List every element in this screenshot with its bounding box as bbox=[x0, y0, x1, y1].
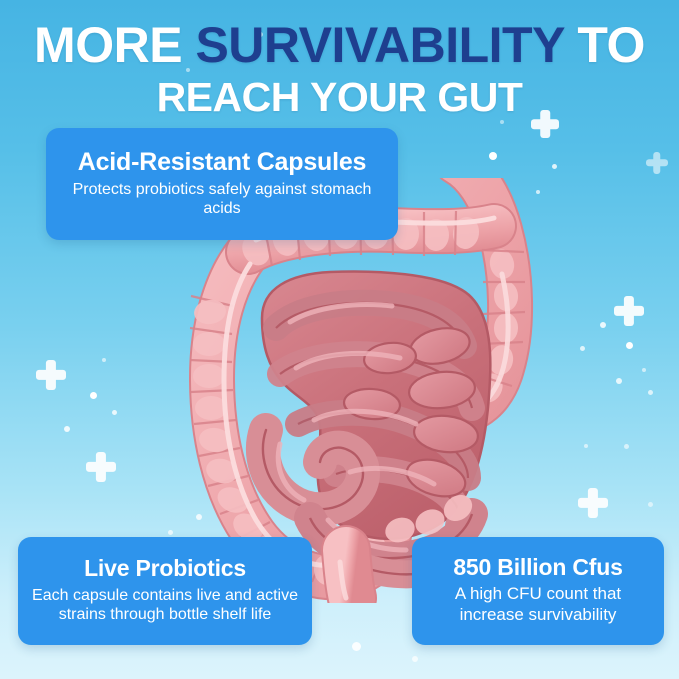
card-acid-resistant-capsules[interactable]: Acid-Resistant Capsules Protects probiot… bbox=[46, 128, 398, 240]
sparkle-dot bbox=[648, 390, 653, 395]
sparkle-dot bbox=[552, 164, 557, 169]
card-cfu-count[interactable]: 850 Billion Cfus A high CFU count that i… bbox=[412, 537, 664, 645]
sparkle-dot bbox=[624, 444, 629, 449]
sparkle-dot bbox=[600, 322, 606, 328]
plus-icon bbox=[578, 488, 608, 518]
plus-icon bbox=[614, 296, 644, 326]
card-title: 850 Billion Cfus bbox=[424, 555, 652, 581]
sparkle-dot bbox=[616, 378, 622, 384]
headline-word-more: MORE bbox=[34, 17, 195, 73]
plus-icon bbox=[86, 452, 116, 482]
headline-word-to: TO bbox=[564, 17, 645, 73]
sparkle-dot bbox=[112, 410, 117, 415]
sparkle-dot bbox=[648, 502, 653, 507]
sparkle-dot bbox=[352, 642, 361, 651]
sparkle-dot bbox=[642, 368, 646, 372]
card-body: Each capsule contains live and active st… bbox=[30, 586, 300, 624]
sparkle-dot bbox=[412, 656, 418, 662]
sparkle-dot bbox=[580, 346, 585, 351]
plus-icon bbox=[36, 360, 66, 390]
probiotic-infographic-poster: MORE SURVIVABILITY TO REACH YOUR GUT bbox=[0, 0, 679, 679]
sparkle-dot bbox=[626, 342, 633, 349]
sparkle-dot bbox=[102, 358, 106, 362]
card-title: Acid-Resistant Capsules bbox=[58, 148, 386, 176]
card-body: A high CFU count that increase survivabi… bbox=[424, 584, 652, 625]
sparkle-dot bbox=[584, 444, 588, 448]
plus-icon bbox=[646, 152, 668, 174]
card-live-probiotics[interactable]: Live Probiotics Each capsule contains li… bbox=[18, 537, 312, 645]
rectum bbox=[340, 550, 352, 598]
headline-line-1: MORE SURVIVABILITY TO bbox=[0, 20, 679, 71]
sparkle-dot bbox=[64, 426, 70, 432]
card-title: Live Probiotics bbox=[30, 556, 300, 582]
headline-word-survivability: SURVIVABILITY bbox=[195, 17, 564, 73]
sparkle-dot bbox=[90, 392, 97, 399]
page-title: MORE SURVIVABILITY TO REACH YOUR GUT bbox=[0, 20, 679, 119]
headline-line-2: REACH YOUR GUT bbox=[0, 77, 679, 119]
sparkle-dot bbox=[489, 152, 497, 160]
card-body: Protects probiotics safely against stoma… bbox=[58, 180, 386, 218]
sparkle-dot bbox=[500, 120, 504, 124]
